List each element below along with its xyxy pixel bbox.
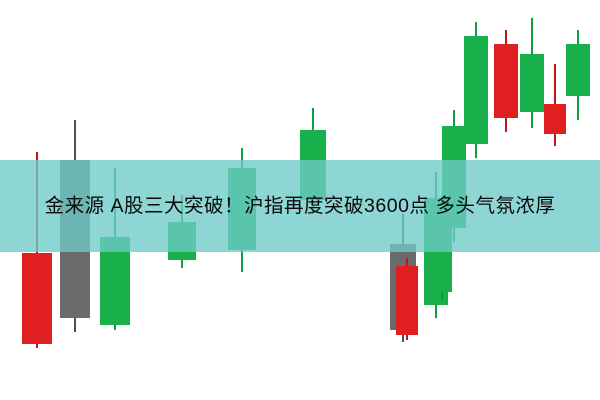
candlestick-body [566,44,590,96]
headline-banner: 金来源 A股三大突破！沪指再度突破3600点 多头气氛浓厚 [0,160,600,252]
candlestick-chart-image: 金来源 A股三大突破！沪指再度突破3600点 多头气氛浓厚 [0,0,600,400]
headline-text: 金来源 A股三大突破！沪指再度突破3600点 多头气氛浓厚 [37,191,564,221]
candlestick-body [520,54,544,112]
candlestick-body [396,266,418,335]
candlestick-body [22,253,52,344]
candlestick-body [464,36,488,144]
candlestick-body [544,104,566,134]
candlestick-body [494,44,518,118]
